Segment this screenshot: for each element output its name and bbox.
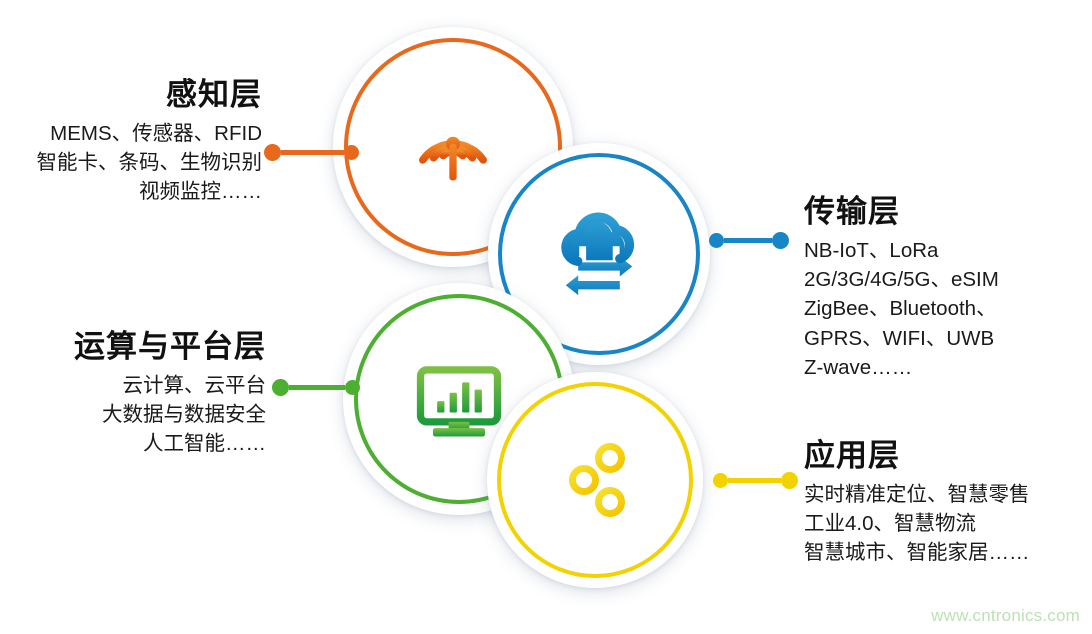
layer-heading-transmission: 传输层 (804, 193, 1092, 230)
layer-desc-transmission-line-4: GPRS、WIFI、UWB (804, 324, 1092, 353)
connector-sensing (264, 140, 359, 164)
layer-desc-application-line-1: 实时精准定位、智慧零售 (804, 480, 1092, 509)
cloud-transfer-icon (547, 202, 651, 306)
connector-platform-line (289, 385, 345, 390)
layer-desc-transmission-line-2: 2G/3G/4G/5G、eSIM (804, 265, 1092, 294)
connector-transmission-dot-inner (709, 233, 724, 248)
connector-application (713, 468, 798, 492)
connector-sensing-dot-inner (344, 145, 359, 160)
connector-sensing-dot-outer (264, 144, 281, 161)
layer-desc-sensing-line-2: 智能卡、条码、生物识别 (0, 148, 262, 177)
connector-transmission (709, 228, 789, 252)
label-block-platform: 运算与平台层 云计算、云平台 大数据与数据安全 人工智能…… (0, 328, 266, 459)
connector-platform-dot-outer (272, 379, 289, 396)
diagram-canvas: 感知层 MEMS、传感器、RFID 智能卡、条码、生物识别 视频监控…… 传输层… (0, 0, 1092, 634)
connector-platform-dot-inner (345, 380, 360, 395)
connector-application-line (728, 478, 781, 483)
label-block-sensing: 感知层 MEMS、传感器、RFID 智能卡、条码、生物识别 视频监控…… (0, 76, 262, 207)
layer-desc-transmission-line-1: NB-IoT、LoRa (804, 236, 1092, 265)
connector-sensing-line (281, 150, 344, 155)
signal-broadcast-icon (399, 93, 507, 201)
layer-desc-application-line-3: 智慧城市、智能家居…… (804, 538, 1092, 567)
layer-desc-application-line-2: 工业4.0、智慧物流 (804, 509, 1092, 538)
layer-desc-transmission-line-3: ZigBee、Bluetooth、 (804, 294, 1092, 323)
node-application[interactable] (487, 372, 703, 588)
layer-desc-transmission-line-5: Z-wave…… (804, 353, 1092, 382)
label-block-application: 应用层 实时精准定位、智慧零售 工业4.0、智慧物流 智慧城市、智能家居…… (804, 437, 1092, 568)
layer-heading-sensing: 感知层 (0, 76, 262, 113)
connector-transmission-dot-outer (772, 232, 789, 249)
layer-desc-platform-line-3: 人工智能…… (0, 429, 266, 458)
connector-application-dot-inner (713, 473, 728, 488)
layer-heading-application: 应用层 (804, 437, 1092, 474)
watermark: www.cntronics.com (931, 606, 1080, 626)
layer-desc-platform-line-2: 大数据与数据安全 (0, 400, 266, 429)
label-block-transmission: 传输层 NB-IoT、LoRa 2G/3G/4G/5G、eSIM ZigBee、… (804, 193, 1092, 382)
layer-desc-platform-line-1: 云计算、云平台 (0, 371, 266, 400)
sliders-settings-icon (545, 430, 645, 530)
layer-desc-sensing-line-1: MEMS、传感器、RFID (0, 119, 262, 148)
connector-platform (272, 375, 360, 399)
layer-heading-platform: 运算与平台层 (0, 328, 266, 365)
connector-application-dot-outer (781, 472, 798, 489)
layer-desc-sensing-line-3: 视频监控…… (0, 177, 262, 206)
connector-transmission-line (724, 238, 772, 243)
